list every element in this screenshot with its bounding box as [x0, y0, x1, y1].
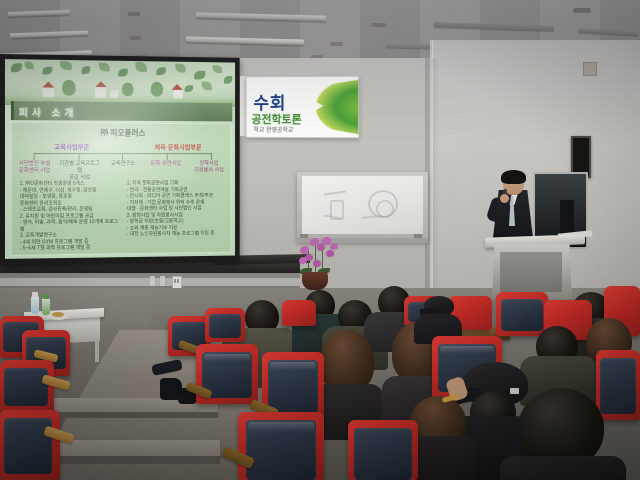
orchid-bloom-8: [313, 260, 321, 267]
water-bottle-2: [42, 298, 50, 315]
bottle-cap-1: [32, 292, 38, 297]
aisle-step-riser-1: [52, 412, 218, 418]
presenter-hair: [501, 170, 526, 184]
wall-banner: 수회 공전학토론 학교 한영공학교: [246, 76, 360, 139]
ceiling-fixture-g: [573, 8, 591, 13]
orchid-bloom-6: [326, 250, 334, 257]
bottle-cap-2: [43, 294, 49, 299]
seat-cushion-f-2: [600, 358, 636, 414]
seat-sheen-g-2: [248, 422, 314, 440]
banner-caption: 학교 한영공학교: [254, 125, 294, 134]
flower-pot: [302, 272, 328, 290]
ceiling-fixture-e: [330, 42, 343, 46]
whiteboard-clip-right: [414, 234, 422, 238]
whiteboard-trace-1: [324, 190, 346, 195]
seat-sheen-f-1: [440, 346, 494, 360]
presenter-hand: [500, 194, 509, 203]
screen-surface: 피사 소개 ㈜ 피오플러스 교육사업부문 체육·문화사업부문 사단법인 부설 문…: [5, 59, 235, 259]
seat-sheen-d-2: [270, 362, 316, 378]
ceiling-fixture-a: [128, 12, 140, 16]
lecture-hall-photo: 피사 소개 ㈜ 피오플러스 교육사업부문 체육·문화사업부문 사단법인 부설 문…: [0, 0, 640, 480]
ceiling-fixture-b: [130, 36, 141, 40]
seat-sheen-d-1: [204, 354, 250, 368]
wall-vent: [583, 62, 597, 76]
wall-mark-2: [160, 276, 165, 286]
projection-screen: 피사 소개 ㈜ 피오플러스 교육사업부문 체육·문화사업부문 사단법인 부설 문…: [0, 54, 240, 266]
projector-glow: [5, 59, 235, 259]
ceiling-fixture-d: [372, 23, 386, 27]
cap-logo: [510, 388, 519, 394]
banner-swoosh-graphic: [294, 79, 359, 136]
audience-torso-11: [500, 456, 626, 480]
snack-item: [52, 312, 64, 317]
podium-front-panel: [500, 252, 562, 292]
seat-cushion-a-3: [4, 368, 48, 406]
whiteboard-trace-6: [362, 215, 382, 219]
seat-cushion-a-4: [4, 418, 52, 474]
whiteboard-surface: [302, 176, 423, 234]
water-bottle-1: [31, 296, 39, 314]
wall-mark-1: [150, 276, 155, 286]
whiteboard-clip-left: [300, 234, 308, 238]
aisle-step-riser-2: [40, 456, 220, 464]
audience-head-5: [320, 330, 374, 392]
seat-cushion-g-1: [354, 428, 412, 480]
orchid-bloom-4: [317, 244, 325, 251]
seat-cushion-c-1: [209, 314, 241, 338]
seat-row-c-2: [282, 300, 316, 326]
seat-cushion-e-2: [501, 299, 543, 331]
